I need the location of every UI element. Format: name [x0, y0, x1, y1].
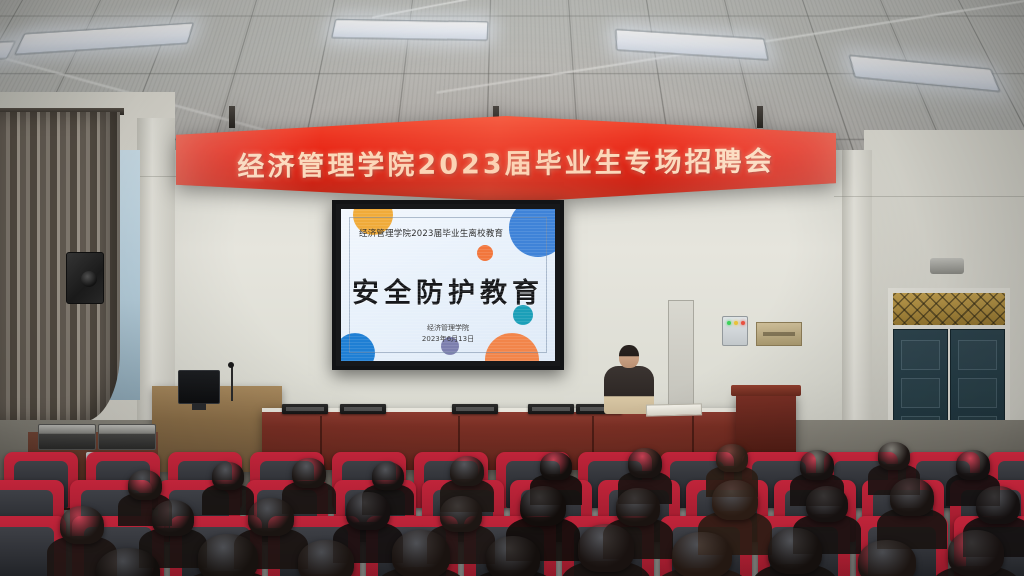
door-transom-window — [893, 293, 1005, 325]
wall-vent — [668, 300, 694, 410]
transom-lattice-grille — [893, 293, 1005, 325]
audience-member-head — [198, 534, 258, 576]
slide-title-text: 安全防护教育 — [341, 271, 555, 310]
led-amber — [734, 321, 738, 325]
audience-member-head — [128, 470, 162, 500]
audience-member-head — [712, 480, 758, 520]
wall-notice-sign — [756, 322, 802, 346]
wall-speaker — [66, 252, 104, 304]
audience-member-head — [346, 492, 390, 530]
audience-member-head — [578, 524, 634, 572]
audience-member-head — [440, 496, 482, 532]
wall-control-panel[interactable] — [722, 316, 748, 346]
audience-member-head — [890, 478, 934, 516]
door-panel — [958, 378, 997, 408]
audience-member-head — [806, 486, 848, 522]
projection-screen: 经济管理学院2023届毕业生离校教育 安全防护教育 经济管理学院 2023年6月… — [332, 200, 564, 370]
audience-member-head — [768, 528, 822, 574]
audience-member-head — [616, 488, 660, 526]
nameplate-2 — [340, 404, 386, 414]
audience-member-head — [628, 448, 662, 478]
wall-seam-right — [834, 196, 1024, 197]
audience-member-head — [450, 456, 484, 486]
nameplate-3 — [452, 404, 498, 414]
slide-org-text: 经济管理学院 — [341, 323, 555, 334]
gooseneck-microphone-stand — [231, 365, 233, 401]
audience-member-head — [800, 450, 834, 480]
audience-member-head — [672, 532, 732, 576]
audience-member-head — [716, 444, 748, 472]
slide-subtitle-block: 经济管理学院 2023年6月13日 — [341, 323, 555, 345]
event-banner: 经济管理学院2023届毕业生专场招聘会 — [176, 116, 836, 202]
led-green — [727, 321, 731, 325]
audience-member-head — [292, 458, 326, 488]
nameplate-1 — [282, 404, 328, 414]
audience-member-head — [858, 540, 916, 576]
desktop-monitor[interactable] — [178, 370, 220, 404]
audience-member-head — [248, 498, 294, 536]
audience-member-head — [152, 500, 194, 536]
auditorium-photo: 经济管理学院2023届毕业生专场招聘会 经济管理学院2023届毕业生离校教育 安… — [0, 0, 1024, 576]
audience-member-head — [520, 486, 566, 526]
audience-member-head — [878, 442, 910, 470]
led-red — [741, 321, 745, 325]
wall-pillar-right — [842, 150, 872, 450]
wall-mount-bracket — [930, 258, 964, 274]
audience-seating-area — [0, 416, 1024, 576]
audience-member-head — [298, 540, 354, 576]
speaker-head — [619, 345, 639, 368]
lectern-top — [731, 385, 801, 396]
door-panel — [958, 340, 997, 370]
audience-member-head — [948, 530, 1004, 576]
audience-member-head — [956, 450, 990, 480]
documents-on-table[interactable] — [646, 403, 702, 416]
audience-member-head — [486, 536, 540, 576]
audience-member-head — [212, 462, 244, 490]
audience-member-head — [372, 462, 404, 490]
slide-header-text: 经济管理学院2023届毕业生离校教育 — [359, 227, 503, 239]
audience-member-head — [540, 452, 572, 480]
microphone-head — [228, 362, 234, 368]
audience-member-head — [976, 486, 1020, 524]
audience-member-head — [392, 530, 450, 576]
nameplate-4 — [528, 404, 574, 414]
door-panel — [901, 378, 940, 408]
door-panel — [901, 340, 940, 370]
slide-date-text: 2023年6月13日 — [341, 334, 555, 345]
presentation-slide: 经济管理学院2023届毕业生离校教育 安全防护教育 经济管理学院 2023年6月… — [341, 209, 555, 361]
audience-member-head — [60, 506, 104, 544]
